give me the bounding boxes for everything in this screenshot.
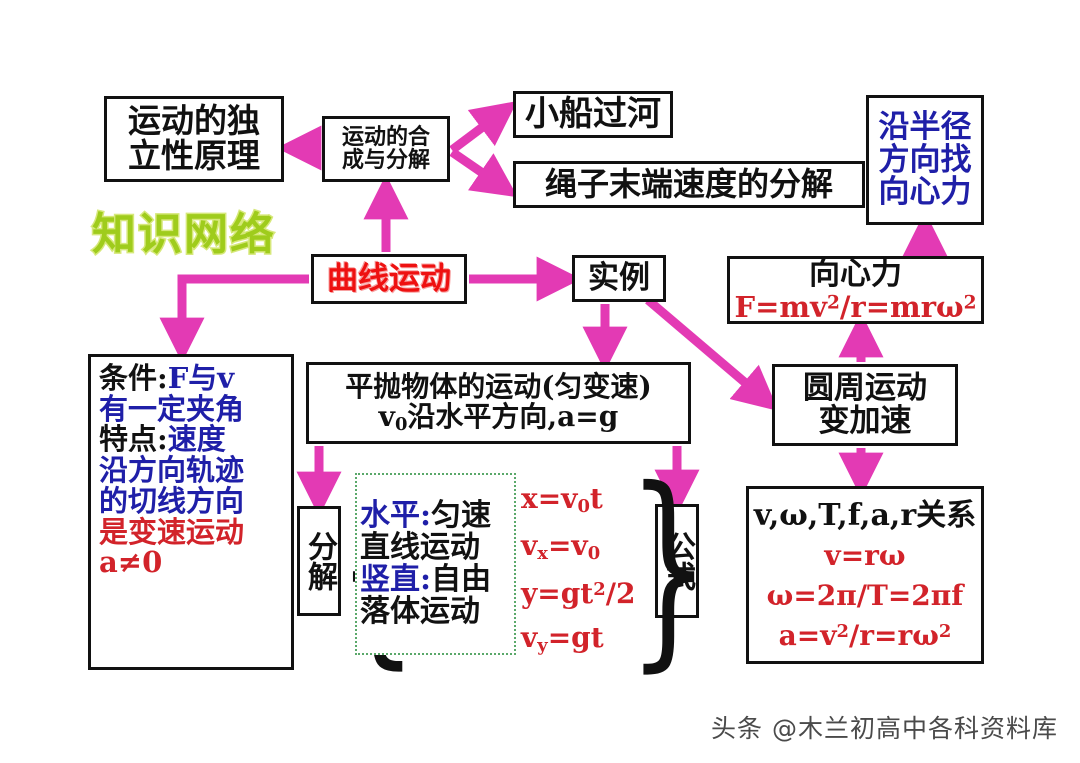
page-title: 知识网络 bbox=[92, 198, 276, 262]
box-curvilinear-motion[interactable]: 曲线运动 bbox=[311, 254, 467, 304]
box-centripetal-force[interactable]: 向心力 F=mv2/r=mrω2 bbox=[727, 256, 984, 324]
conditions-line-2: 有一定夹角 bbox=[99, 394, 244, 425]
relations-formula-1: v=rω bbox=[824, 541, 905, 571]
decomposition-row-3: 竖直:自由 bbox=[360, 564, 514, 596]
box-projectile-motion[interactable]: 平抛物体的运动(匀变速) v0沿水平方向,a=g bbox=[306, 362, 691, 444]
box-radius-line1: 沿半径 bbox=[879, 111, 972, 144]
decomposition-row-1: 水平:匀速 bbox=[360, 500, 514, 532]
box-decompose[interactable]: 分解 bbox=[297, 506, 341, 616]
conditions-line-5: 的切线方向 bbox=[99, 486, 244, 517]
box-conditions-and-features[interactable]: 条件:F与v 有一定夹角 特点:速度 沿方向轨迹 的切线方向 是变速运动 a≠0 bbox=[88, 354, 294, 670]
box-radius-line3: 向心力 bbox=[879, 176, 972, 209]
decomposition-row-4: 落体运动 bbox=[360, 596, 514, 628]
decomposition-group: 水平:匀速 直线运动 竖直:自由 落体运动 bbox=[355, 473, 516, 655]
projectile-formula-vy: vy=gt bbox=[521, 624, 649, 655]
circular-line2: 变加速 bbox=[819, 405, 912, 438]
conditions-line-4: 沿方向轨迹 bbox=[99, 455, 244, 486]
decompose-label: 分解 bbox=[304, 531, 334, 591]
projectile-formula-y: y=gt2/2 bbox=[521, 580, 649, 608]
box-circular-motion-variable-acceleration[interactable]: 圆周运动 变加速 bbox=[772, 364, 958, 446]
box-centripetal-title: 向心力 bbox=[809, 258, 902, 291]
box-centripetal-formula: F=mv2/r=mrω2 bbox=[735, 292, 977, 323]
box-radius-line2: 方向找 bbox=[879, 144, 972, 177]
conditions-line-7: a≠0 bbox=[99, 547, 162, 578]
relations-formula-2: ω=2π/T=2πf bbox=[767, 581, 964, 611]
box-curvilinear-label: 曲线运动 bbox=[327, 263, 451, 296]
arrow-composition-to-rope bbox=[452, 152, 500, 185]
knowledge-network-diagram: 知识网络 运动的独 立性原理 运动的合 成与分解 小船过河 绳子末端速度的分解 … bbox=[0, 0, 1080, 763]
arrow-curvilinear-to-conditions bbox=[182, 279, 309, 341]
box-motion-composition-decomposition[interactable]: 运动的合 成与分解 bbox=[322, 116, 450, 182]
relations-title: v,ω,T,f,a,r关系 bbox=[754, 500, 976, 532]
projectile-line2: v0沿水平方向,a=g bbox=[379, 402, 619, 434]
box-independence-line2: 立性原理 bbox=[128, 139, 260, 174]
projectile-formula-x: x=v0t bbox=[521, 485, 649, 516]
box-rope-end-velocity-decomposition[interactable]: 绳子末端速度的分解 bbox=[513, 161, 865, 208]
decomposition-row-2: 直线运动 bbox=[360, 532, 514, 564]
box-independence-principle[interactable]: 运动的独 立性原理 bbox=[104, 96, 284, 182]
box-composition-line1: 运动的合 bbox=[342, 126, 430, 149]
watermark: 头条 @木兰初高中各科资料库 bbox=[711, 709, 1058, 745]
conditions-line-3: 特点:速度 bbox=[99, 424, 226, 455]
box-independence-line1: 运动的独 bbox=[128, 104, 260, 139]
projectile-formula-vx: vx=v0 bbox=[521, 532, 649, 563]
box-examples[interactable]: 实例 bbox=[572, 255, 666, 302]
arrow-composition-to-boat bbox=[452, 114, 500, 150]
relations-formula-3: a=v2/r=rω2 bbox=[779, 621, 952, 651]
box-rope-label: 绳子末端速度的分解 bbox=[545, 168, 833, 202]
box-example-label: 实例 bbox=[588, 262, 650, 295]
box-boat-crossing-river[interactable]: 小船过河 bbox=[513, 91, 673, 138]
conditions-line-1: 条件:F与v bbox=[99, 363, 234, 394]
box-quantity-relations[interactable]: v,ω,T,f,a,r关系 v=rω ω=2π/T=2πf a=v2/r=rω2 bbox=[746, 486, 984, 664]
box-find-centripetal-force-along-radius[interactable]: 沿半径 方向找 向心力 bbox=[866, 95, 984, 225]
circular-line1: 圆周运动 bbox=[803, 372, 927, 405]
conditions-line-6: 是变速运动 bbox=[99, 517, 244, 548]
box-composition-line2: 成与分解 bbox=[342, 149, 430, 172]
box-boat-label: 小船过河 bbox=[525, 96, 661, 132]
projectile-formula-list: x=v0t vx=v0 y=gt2/2 vy=gt bbox=[521, 485, 649, 655]
projectile-line1: 平抛物体的运动(匀变速) bbox=[345, 372, 652, 402]
